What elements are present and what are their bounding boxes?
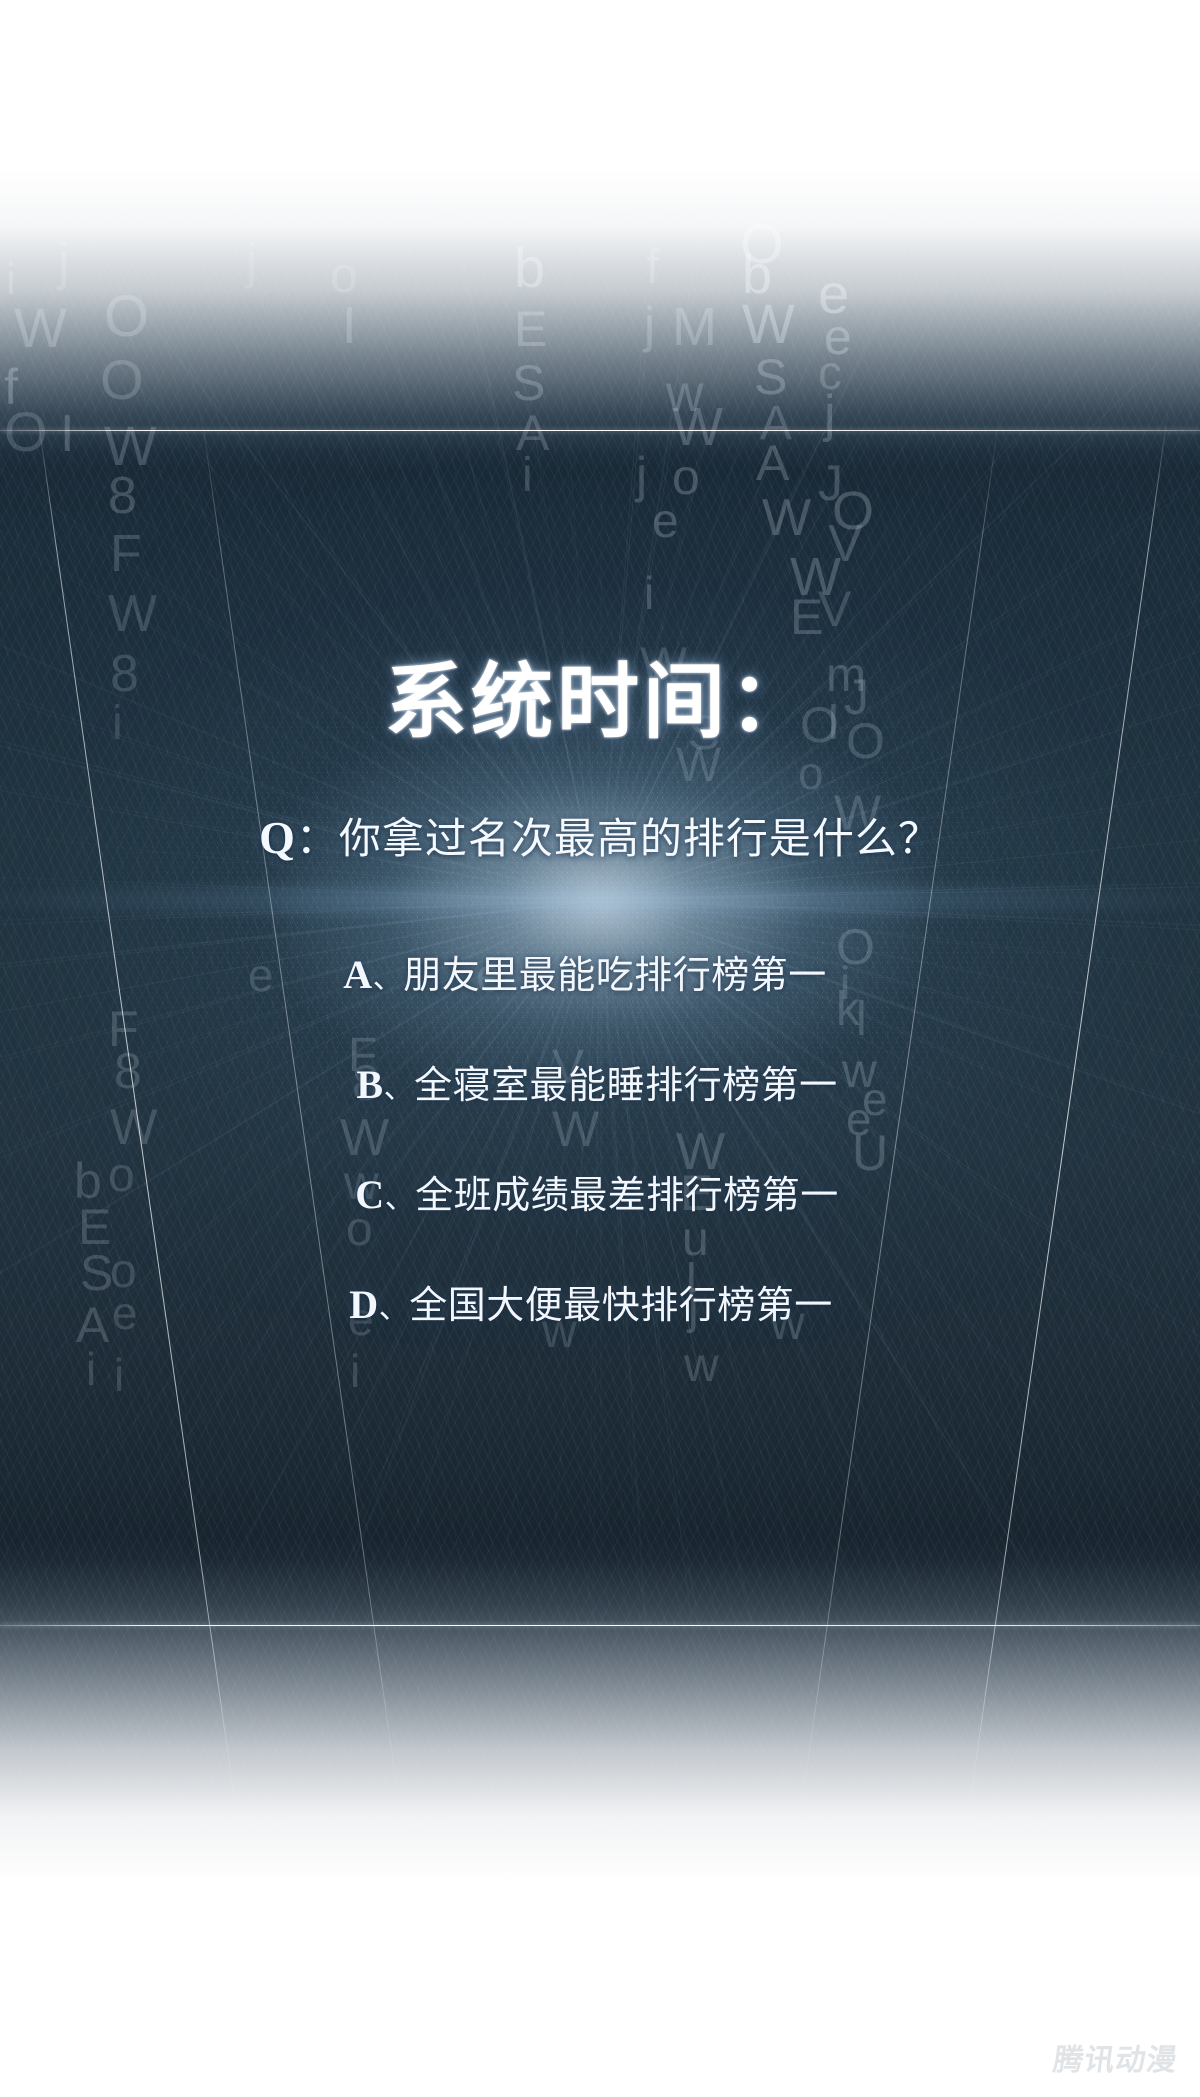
quiz-question: Q：你拿过名次最高的排行是什么？ [0,805,1200,866]
quiz-question-text: 你拿过名次最高的排行是什么？ [339,815,941,862]
quiz-option-separator: 、 [384,1072,415,1105]
quiz-option-separator: 、 [385,1182,416,1215]
quiz-option-separator: 、 [379,1292,410,1325]
quiz-option-label: B [356,1062,383,1107]
quiz-option-label: C [355,1172,384,1217]
comic-panel: ijOWfOjoIbfObeEjMWeSwScOWIAWAj8ijoAJOFeW… [0,0,1200,2097]
quiz-option-d[interactable]: D、全国大便最快排行榜第一 [0,1250,1200,1360]
quiz-option-text: 朋友里最能吃排行榜第一 [403,955,827,997]
quiz-option-label: A [343,952,372,997]
quiz-question-colon: ： [296,815,339,862]
quiz-option-text: 全寝室最能睡排行榜第一 [414,1065,838,1107]
quiz-option-text: 全国大便最快排行榜第一 [409,1285,833,1327]
quiz-option-b[interactable]: B、全寝室最能睡排行榜第一 [0,1030,1200,1140]
watermark: 腾讯动漫 [1051,2035,1181,2079]
page-title: 系统时间： [0,635,1200,754]
quiz-question-prefix: Q [259,812,296,863]
quiz-option-label: D [349,1282,378,1327]
quiz-option-a[interactable]: A、朋友里最能吃排行榜第一 [0,920,1200,1030]
quiz-option-c[interactable]: C、全班成绩最差排行榜第一 [0,1140,1200,1250]
quiz-options-list: A、朋友里最能吃排行榜第一B、全寝室最能睡排行榜第一C、全班成绩最差排行榜第一D… [0,920,1200,1360]
panel-content: 系统时间： Q：你拿过名次最高的排行是什么？ A、朋友里最能吃排行榜第一B、全寝… [0,0,1200,2097]
quiz-option-text: 全班成绩最差排行榜第一 [415,1175,839,1217]
quiz-option-separator: 、 [373,962,404,995]
